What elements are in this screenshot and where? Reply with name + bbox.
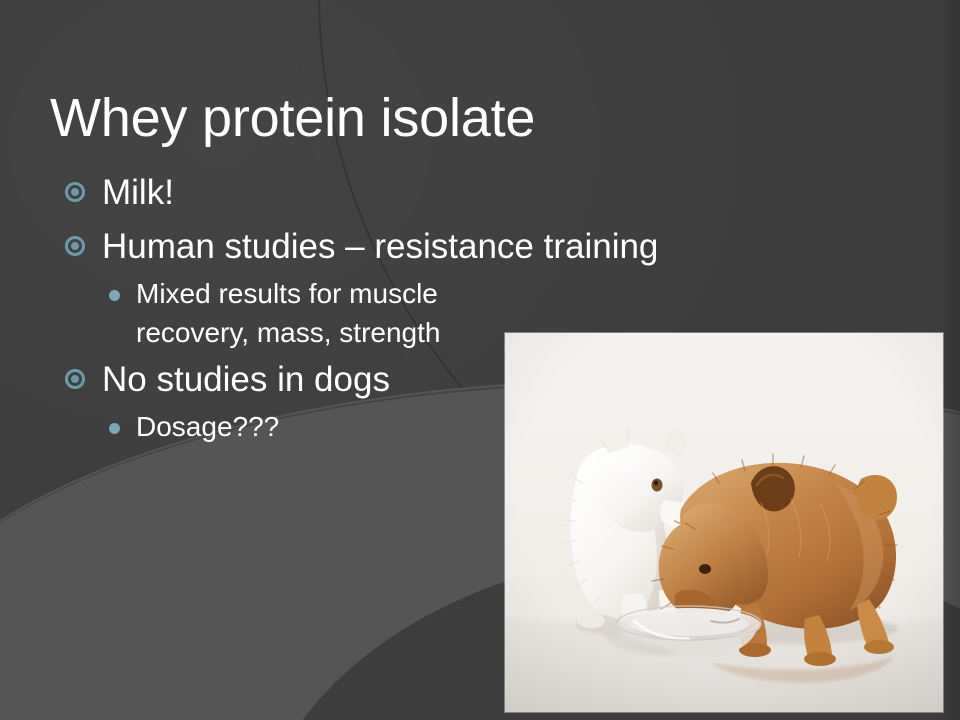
ring-bullet-icon [65,369,85,389]
bullet-item-level1: Human studies – resistance training [52,222,792,272]
bullet-item-level2: Mixed results for muscle recovery, mass,… [52,275,541,352]
bullet-text: Mixed results for muscle recovery, mass,… [136,278,440,348]
bullet-text: No studies in dogs [102,360,390,399]
bullet-text: Dosage??? [136,411,279,442]
puppies-eating-photo-icon [505,333,943,712]
presentation-slide: Whey protein isolate Milk! Human studies… [0,0,960,720]
bullet-item-level1: Milk! [52,168,792,218]
bullet-text: Human studies – resistance training [102,227,658,266]
dot-bullet-icon [109,290,120,301]
ring-bullet-icon [65,236,85,256]
bullet-text: Milk! [102,173,174,212]
puppies-photo [505,333,943,712]
slide-title: Whey protein isolate [50,88,890,148]
ring-bullet-icon [65,182,85,202]
dot-bullet-icon [109,423,120,434]
